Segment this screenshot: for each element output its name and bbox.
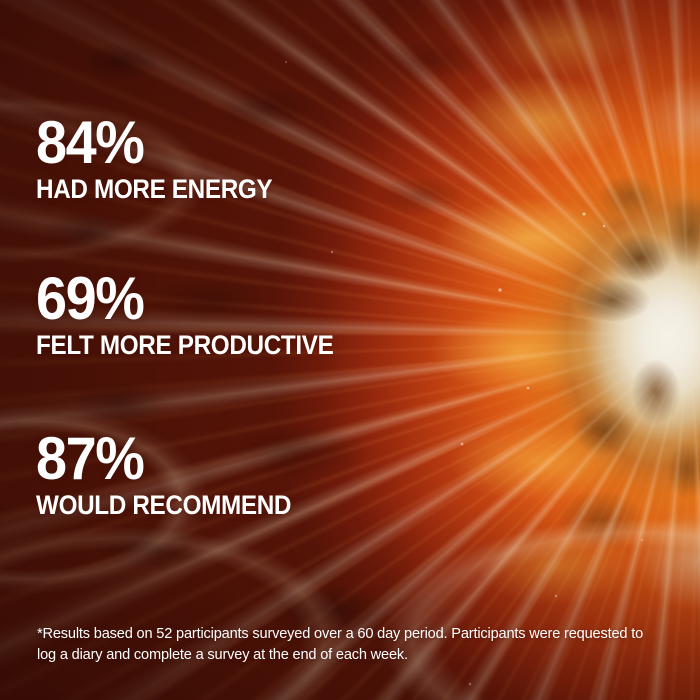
stat-label-would-recommend: WOULD RECOMMEND — [36, 492, 291, 519]
infographic-content: 84% HAD MORE ENERGY 69% FELT MORE PRODUC… — [0, 0, 700, 700]
infographic-canvas: 84% HAD MORE ENERGY 69% FELT MORE PRODUC… — [0, 0, 700, 700]
stat-block-felt-more-productive: 69% FELT MORE PRODUCTIVE — [36, 274, 367, 359]
survey-methodology-footnote: *Results based on 52 participants survey… — [37, 623, 644, 666]
stat-block-would-recommend: 87% WOULD RECOMMEND — [36, 434, 319, 519]
stat-label-had-more-energy: HAD MORE ENERGY — [36, 176, 272, 203]
stat-value-87-percent: 87% — [36, 434, 300, 484]
stat-value-69-percent: 69% — [36, 274, 343, 324]
stat-block-had-more-energy: 84% HAD MORE ENERGY — [36, 118, 299, 203]
stat-value-84-percent: 84% — [36, 118, 280, 168]
stat-label-felt-more-productive: FELT MORE PRODUCTIVE — [36, 332, 333, 359]
